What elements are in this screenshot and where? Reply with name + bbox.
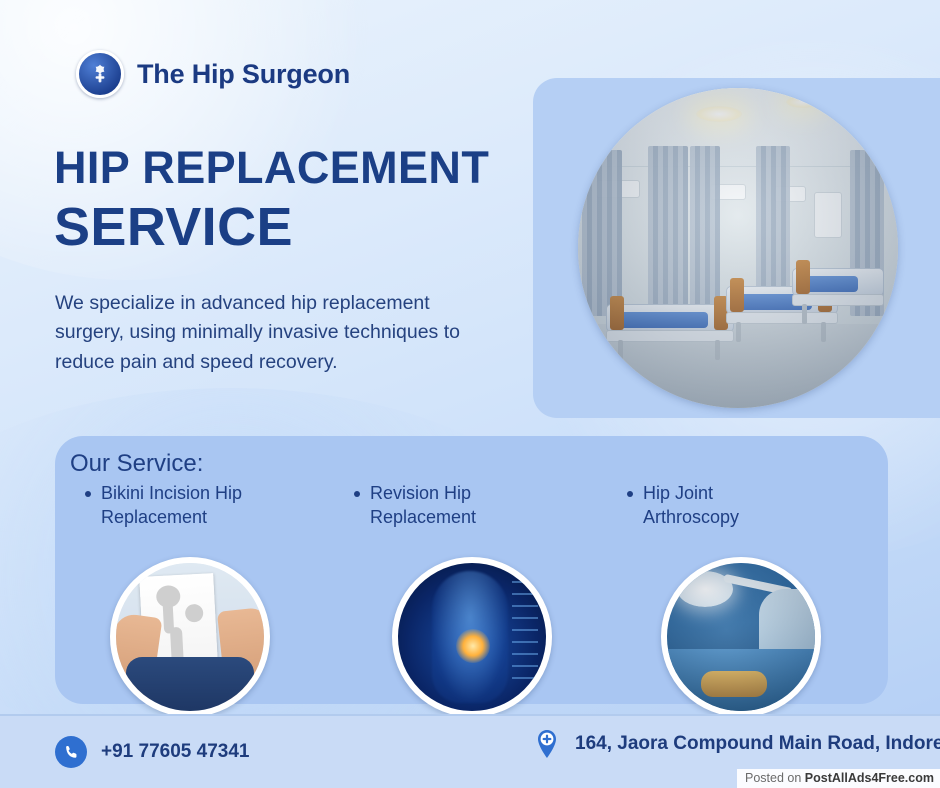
bullet-icon <box>85 491 91 497</box>
service-label-wrap: Hip Joint Arthroscopy <box>609 482 807 530</box>
service-image-2 <box>392 557 552 717</box>
contact-address[interactable]: 164, Jaora Compound Main Road, Indore <box>533 728 940 760</box>
services-panel: Our Service: Bikini Incision Hip Replace… <box>55 436 888 704</box>
intro-paragraph: We specialize in advanced hip replacemen… <box>55 289 485 377</box>
service-item-3: Hip Joint Arthroscopy <box>609 482 886 530</box>
medical-cross-emblem-icon <box>76 50 124 98</box>
location-pin-icon <box>533 728 561 760</box>
headline-line-2: SERVICE <box>54 197 524 257</box>
phone-number: +91 77605 47341 <box>101 740 249 765</box>
page-title: HIP REPLACEMENT SERVICE <box>54 144 524 258</box>
hospital-ward-illustration <box>578 88 898 408</box>
headline-line-1: HIP REPLACEMENT <box>54 144 524 191</box>
service-label-wrap: Bikini Incision Hip Replacement <box>55 482 280 530</box>
brand-header: The Hip Surgeon <box>76 50 350 98</box>
service-item-1: Bikini Incision Hip Replacement <box>55 482 332 530</box>
bullet-icon <box>354 491 360 497</box>
footer-bar: +91 77605 47341 164, Jaora Compound Main… <box>0 714 940 788</box>
watermark: Posted on PostAllAds4Free.com <box>737 769 940 788</box>
service-image-1 <box>110 557 270 717</box>
watermark-site: PostAllAds4Free.com <box>805 771 934 785</box>
hero-image <box>578 88 898 408</box>
brand-name: The Hip Surgeon <box>137 59 350 90</box>
service-label: Bikini Incision Hip Replacement <box>101 482 280 530</box>
service-image-3 <box>661 557 821 717</box>
phone-icon <box>55 736 87 768</box>
service-item-2: Revision Hip Replacement <box>332 482 609 530</box>
watermark-prefix: Posted on <box>745 771 805 785</box>
services-list: Bikini Incision Hip Replacement <box>55 482 888 530</box>
services-title: Our Service: <box>70 450 203 478</box>
service-label-wrap: Revision Hip Replacement <box>332 482 544 530</box>
poster-canvas: The Hip Surgeon HIP REPLACEMENT SERVICE … <box>0 0 940 788</box>
bullet-icon <box>627 491 633 497</box>
service-label: Hip Joint Arthroscopy <box>643 482 807 530</box>
service-label: Revision Hip Replacement <box>370 482 544 530</box>
address-text: 164, Jaora Compound Main Road, Indore <box>575 732 940 757</box>
contact-phone[interactable]: +91 77605 47341 <box>55 736 249 768</box>
